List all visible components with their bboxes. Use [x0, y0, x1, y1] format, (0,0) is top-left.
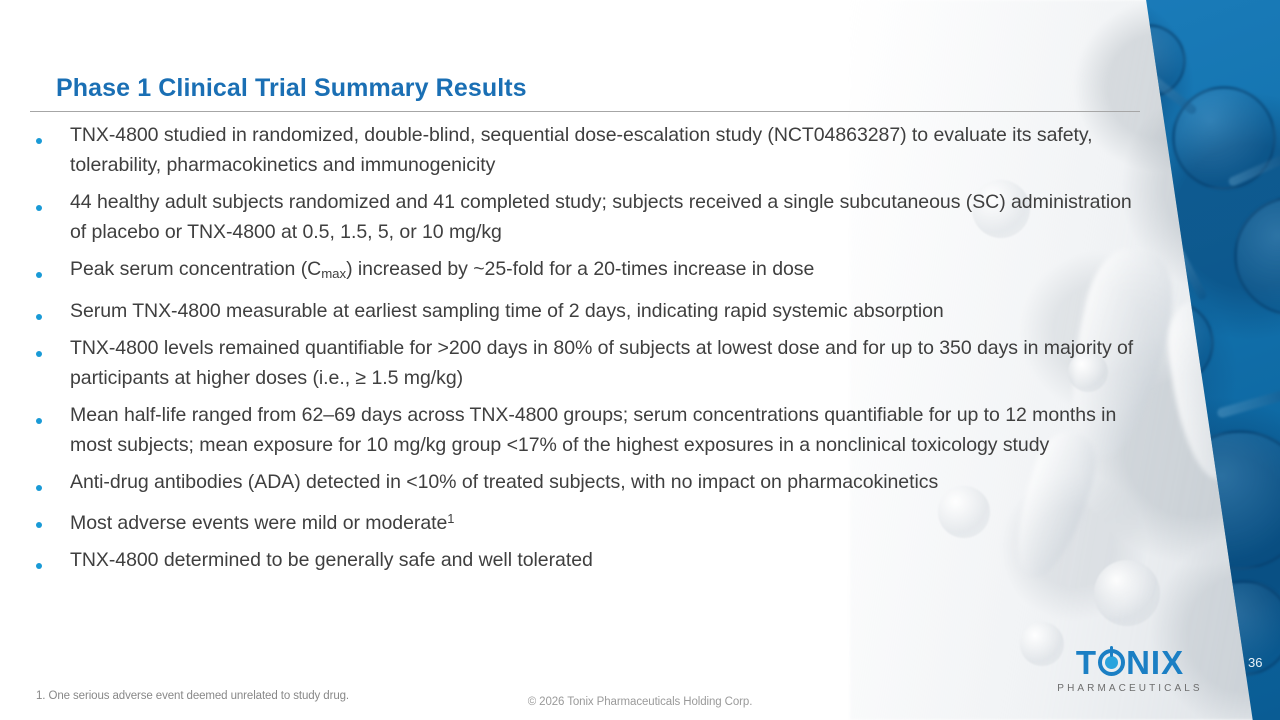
- slide-canvas: Phase 1 Clinical Trial Summary Results T…: [0, 0, 1280, 720]
- list-item: Serum TNX-4800 measurable at earliest sa…: [36, 296, 1141, 326]
- list-item: Anti-drug antibodies (ADA) detected in <…: [36, 467, 1141, 497]
- list-item-text-main: TNX-4800 levels remained quantifiable fo…: [70, 337, 1133, 389]
- list-item-text-main: 44 healthy adult subjects randomized and…: [70, 191, 1132, 243]
- bullet-dot-icon: [36, 333, 70, 362]
- bullet-dot-icon: [36, 120, 70, 149]
- page-title: Phase 1 Clinical Trial Summary Results: [56, 74, 527, 103]
- tonix-logo: T NIX PHARMACEUTICALS: [1040, 645, 1220, 701]
- list-item: TNX-4800 studied in randomized, double-b…: [36, 120, 1141, 180]
- list-item: TNX-4800 determined to be generally safe…: [36, 545, 1141, 575]
- list-item-text-main: TNX-4800 studied in randomized, double-b…: [70, 124, 1093, 176]
- logo-tagline: PHARMACEUTICALS: [1040, 683, 1220, 694]
- list-item-text-main: Serum TNX-4800 measurable at earliest sa…: [70, 300, 944, 322]
- list-item: TNX-4800 levels remained quantifiable fo…: [36, 333, 1141, 393]
- bullet-dot-icon: [36, 254, 70, 283]
- list-item-text: Peak serum concentration (Cmax) increase…: [70, 254, 1141, 289]
- molecule-circle: [1234, 196, 1280, 316]
- bullet-dot-icon: [36, 400, 70, 429]
- list-item-text: Mean half-life ranged from 62–69 days ac…: [70, 400, 1141, 460]
- list-item-text: TNX-4800 determined to be generally safe…: [70, 545, 1141, 575]
- page-number: 36: [1248, 655, 1262, 670]
- list-item: Mean half-life ranged from 62–69 days ac…: [36, 400, 1141, 460]
- bullet-dot-icon: [36, 504, 70, 533]
- logo-letters-nix: NIX: [1126, 646, 1184, 679]
- list-item-text-tail: ) increased by ~25-fold for a 20-times i…: [346, 258, 814, 280]
- list-item: Peak serum concentration (Cmax) increase…: [36, 254, 1141, 289]
- bullet-dot-icon: [36, 187, 70, 216]
- bullet-dot-icon: [36, 296, 70, 325]
- list-item-text-main: Most adverse events were mild or moderat…: [70, 512, 447, 534]
- footnote-marker: 1: [447, 511, 454, 526]
- logo-letter-t: T: [1076, 646, 1097, 679]
- list-item-text: Serum TNX-4800 measurable at earliest sa…: [70, 296, 1141, 326]
- list-item: Most adverse events were mild or moderat…: [36, 504, 1141, 538]
- subscript-max: max: [321, 266, 346, 281]
- list-item-text-main: Peak serum concentration (C: [70, 258, 321, 280]
- bullet-list: TNX-4800 studied in randomized, double-b…: [36, 120, 1141, 582]
- list-item-text: TNX-4800 studied in randomized, double-b…: [70, 120, 1141, 180]
- list-item-text: Anti-drug antibodies (ADA) detected in <…: [70, 467, 1141, 497]
- list-item-text-main: Mean half-life ranged from 62–69 days ac…: [70, 404, 1116, 456]
- molecule-bond: [1216, 387, 1280, 419]
- list-item: 44 healthy adult subjects randomized and…: [36, 187, 1141, 247]
- list-item-text: 44 healthy adult subjects randomized and…: [70, 187, 1141, 247]
- list-item-text-main: TNX-4800 determined to be generally safe…: [70, 549, 593, 571]
- bullet-dot-icon: [36, 545, 70, 574]
- logo-wordmark: T NIX: [1040, 645, 1220, 679]
- bullet-dot-icon: [36, 467, 70, 496]
- list-item-text-main: Anti-drug antibodies (ADA) detected in <…: [70, 471, 938, 493]
- list-item-text: Most adverse events were mild or moderat…: [70, 504, 1141, 538]
- title-divider: [30, 111, 1140, 112]
- power-circle-icon: [1098, 649, 1125, 676]
- list-item-text: TNX-4800 levels remained quantifiable fo…: [70, 333, 1141, 393]
